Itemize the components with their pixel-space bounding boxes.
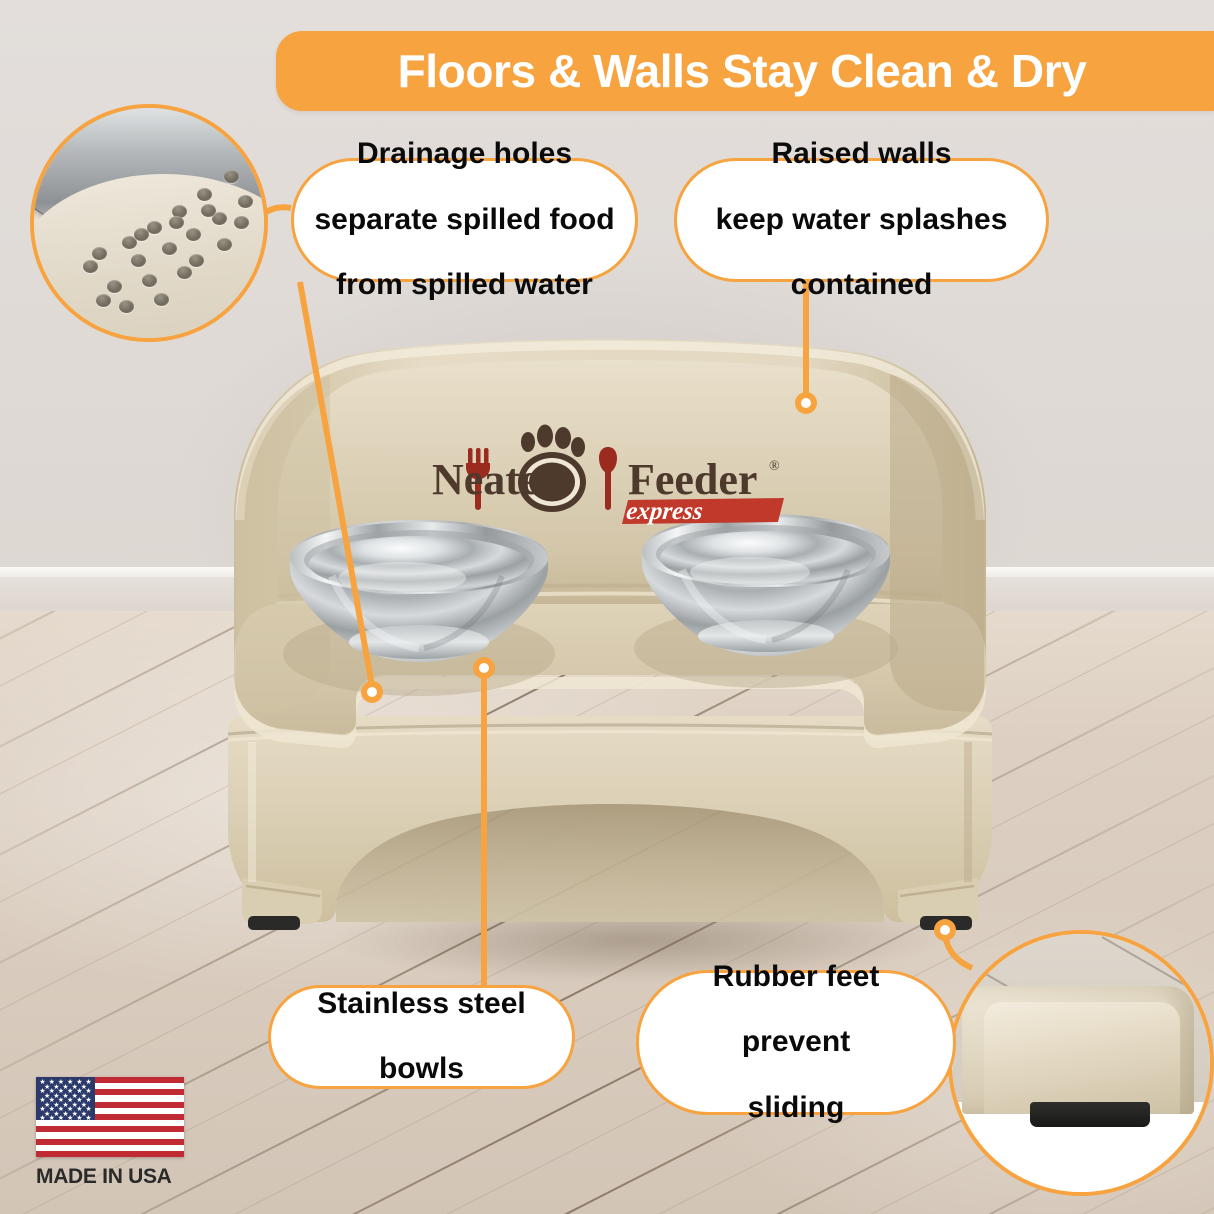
drainage-hole [201,204,216,217]
drainage-hole [197,188,212,201]
logo-text-feeder: Feeder [628,455,757,504]
callout-rubber-feet[interactable]: Rubber feet prevent sliding [636,970,956,1115]
drainage-hole [96,294,111,307]
drainage-hole [131,254,146,267]
made-in-usa-badge: ★★★★★★★★★★★★★★★★★★★★★★★★★★★★★★★★★★★★★★★★… [36,1077,186,1189]
rubber-foot-left [248,916,300,930]
drainage-hole [83,260,98,273]
flag-star: ★ [39,1115,45,1122]
drainage-hole [119,300,134,313]
pointer-dot-bowls [473,657,495,679]
drainage-hole [134,228,149,241]
banner-title: Floors & Walls Stay Clean & Dry [398,44,1093,98]
closeup-feeder-leg [962,986,1194,1114]
callout-raised-walls-text: Raised walls keep water splashes contain… [696,138,1028,301]
closeup-leg-face [984,1002,1180,1114]
logo-registered-mark: ® [769,459,780,474]
drainage-hole [147,221,162,234]
callout-drainage-holes[interactable]: Drainage holes separate spilled food fro… [291,158,638,282]
made-in-usa-label: MADE IN USA [36,1165,186,1189]
closeup-rubber-foot [1030,1102,1150,1127]
flag-canton: ★★★★★★★★★★★★★★★★★★★★★★★★★★★★★★★★★★★★★★★★… [36,1077,95,1120]
drainage-hole [142,274,157,287]
feeder-stand [228,716,992,930]
feeder-illustration: Neater Feeder ® express [180,330,1040,950]
callout-rubber-feet-text: Rubber feet prevent sliding [693,961,900,1124]
callout-raised-walls[interactable]: Raised walls keep water splashes contain… [674,158,1049,282]
drainage-hole [154,293,169,306]
bowl-left [283,520,555,696]
flag-stripe [36,1151,184,1157]
neater-feeder-express-product: Neater Feeder ® express [180,330,1040,950]
flag-stripe [36,1139,184,1145]
closeup-tray-surface [30,174,268,342]
logo-text-neater: Neater [432,455,559,504]
rubber-foot-closeup-inset [948,930,1214,1196]
drainage-hole [238,195,253,208]
bowl-right [634,514,898,688]
callout-drainage-holes-text: Drainage holes separate spilled food fro… [294,138,634,301]
drainage-hole [169,216,184,229]
flag-star: ★ [76,1115,82,1122]
drainage-hole [186,228,201,241]
drainage-hole [107,280,122,293]
flag-star: ★ [49,1115,55,1122]
drainage-hole [224,170,239,183]
flag-stripe [36,1126,184,1132]
pointer-dot-raised-walls [795,392,817,414]
drainage-hole [189,254,204,267]
flag-star: ★ [67,1115,73,1122]
us-flag-icon: ★★★★★★★★★★★★★★★★★★★★★★★★★★★★★★★★★★★★★★★★… [36,1077,184,1157]
drainage-hole [177,266,192,279]
drainage-holes-closeup-inset [30,104,268,342]
pointer-dot-drainage [361,681,383,703]
drainage-hole [162,242,177,255]
drainage-hole [217,238,232,251]
callout-stainless-steel-bowls-text: Stainless steel bowls [297,988,545,1086]
infographic-canvas: Neater Feeder ® express [0,0,1214,1214]
header-banner: Floors & Walls Stay Clean & Dry [276,31,1214,111]
flag-star: ★ [58,1115,64,1122]
drainage-hole [234,216,249,229]
drainage-hole [92,247,107,260]
callout-stainless-steel-bowls[interactable]: Stainless steel bowls [268,985,575,1089]
logo-text-express: express [625,498,704,525]
flag-star: ★ [85,1115,91,1122]
